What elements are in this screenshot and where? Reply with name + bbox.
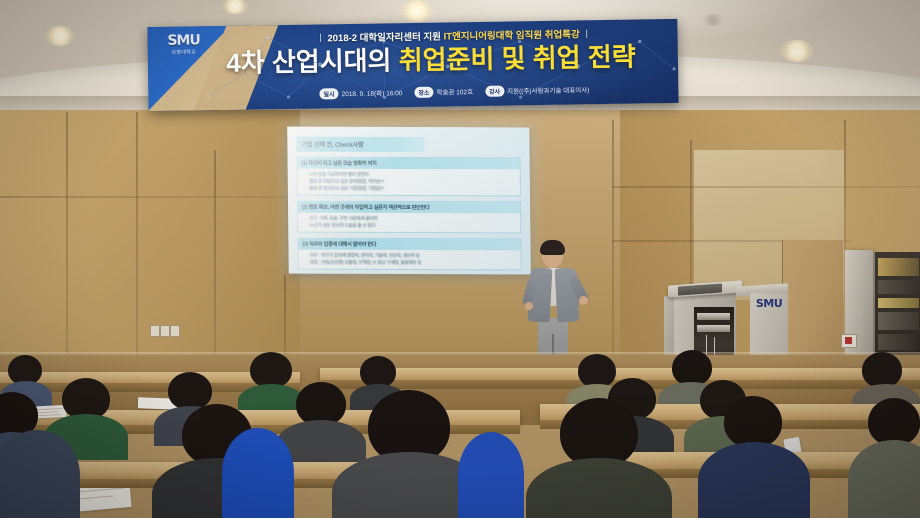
banner-meta-pill: 강사 xyxy=(485,86,504,97)
side-door xyxy=(782,240,843,370)
slide-block: (3) 직무와 업종에 대해서 알아야 한다 직무 : 직무가 흥미에 영업직,… xyxy=(297,238,521,271)
audience-head xyxy=(868,398,920,446)
banner-title-white: 4차 산업시대의 xyxy=(226,45,392,78)
banner-smu-logo: SMU 상명대학교 xyxy=(155,34,211,56)
banner-smu-logo-text: SMU xyxy=(155,34,211,48)
presentation-slide: 기업 선택 전, Check사항 (1) 자신이 되고 싶은 모습 명확히 의지… xyxy=(296,137,521,265)
slide-block-heading: (2) 멘토 확보, 어떤 곳에와 직업하고 싶은지 객관적으로 판단한다 xyxy=(298,202,520,214)
speaker-glasses-icon xyxy=(543,250,562,255)
fire-extinguisher-sign-icon xyxy=(841,334,857,348)
wall-panel-seam xyxy=(214,150,216,374)
banner-bar-right: ㅣ xyxy=(582,29,591,40)
speaker-hand-left xyxy=(525,302,533,310)
slide-bullet: 졸업 후 입사하고 싶은 기업(업종, 기업)은? xyxy=(307,185,516,193)
audience-head xyxy=(250,352,292,388)
wall-panel-seam xyxy=(66,112,68,374)
audience-shoulders xyxy=(0,430,80,518)
slide-block: (1) 자신이 되고 싶은 모습 명확히 의지 나의 꿈을 가급적이면 빨리 정… xyxy=(297,157,521,197)
banner-meta-pill: 일시 xyxy=(319,88,338,99)
banner-meta-text: 학술관 102호 xyxy=(436,89,473,97)
projection-screen: 기업 선택 전, Check사항 (1) 자신이 되고 싶은 모습 명확히 의지… xyxy=(287,127,531,275)
slide-block-body: 직무 : 직무가 흥미에 영업직, 관리직, 기술직, 전산직, 생산직 등 업… xyxy=(299,250,521,270)
notice-board-row xyxy=(878,258,919,276)
wall-panel-seam xyxy=(612,186,920,188)
wall-panel-seam xyxy=(0,196,300,198)
banner-meta-item: 강사지원((주)사람과기술 대표이사) xyxy=(485,84,589,97)
audience-head xyxy=(862,352,902,388)
ceiling-spotlight xyxy=(400,0,434,22)
audience-head xyxy=(578,354,616,388)
audience-head xyxy=(168,372,212,410)
slide-block: (2) 멘토 확보, 어떤 곳에와 직업하고 싶은지 객관적으로 판단한다 친구… xyxy=(297,201,521,234)
slide-bullet: 누군가 세운 정보와 도움을 줄 수 있다 xyxy=(307,222,516,230)
notice-board-row xyxy=(878,312,919,330)
podium-av-rack xyxy=(697,313,730,320)
podium-smu-logo: SMU xyxy=(754,297,784,310)
slide-bullet: 업종 : 산업군(유형) 유통업, 무역업, IT, 화공 기계업, 물류제조 … xyxy=(308,259,517,267)
podium-av-rack xyxy=(697,325,730,332)
notice-board xyxy=(873,252,920,362)
notice-board-row xyxy=(878,334,919,350)
wall-panel-seam xyxy=(844,120,846,250)
banner-meta-item: 일시2018. 9. 18(화) 16:00 xyxy=(319,87,402,99)
wall-panel-seam xyxy=(136,112,138,374)
event-banner: SMU 상명대학교 ㅣ 2018-2 대학일자리센터 지원 IT엔지니어링대학 … xyxy=(147,19,678,111)
banner-title-yellow: 취업준비 및 취업 전략 xyxy=(398,42,635,76)
wall-panel-seam xyxy=(612,120,614,370)
banner-subtitle-prefix: 2018-2 대학일자리센터 지원 xyxy=(327,32,441,45)
audience-head xyxy=(672,350,712,386)
slide-block-body: 나의 꿈을 가급적이면 빨리 정한다 졸업 후 취업하고 싶은 분야(업종, 직… xyxy=(298,169,520,196)
audience-shoulders xyxy=(222,428,294,518)
banner-subtitle-highlight: IT엔지니어링대학 임직원 취업특강 xyxy=(444,29,580,42)
audience-shoulders xyxy=(458,432,524,518)
lecture-desk xyxy=(320,368,920,381)
audience-shoulders xyxy=(698,442,810,518)
slide-block-heading: (1) 자신이 되고 싶은 모습 명확히 의지 xyxy=(298,158,520,170)
wall-outlet xyxy=(160,325,170,337)
wall-outlet xyxy=(150,325,160,337)
banner-meta-pill: 장소 xyxy=(414,87,433,98)
lecture-hall-photo: SMU 상명대학교 ㅣ 2018-2 대학일자리센터 지원 IT엔지니어링대학 … xyxy=(0,0,920,518)
banner-meta-item: 장소학술관 102호 xyxy=(414,86,473,98)
speaker-hand-right xyxy=(579,296,588,305)
slide-block-body: 친구, 가족, 동료, 주변 사람에게 물어라 누군가 세운 정보와 도움을 줄… xyxy=(298,213,520,233)
banner-meta-text: 2018. 9. 18(화) 16:00 xyxy=(342,90,403,98)
ceiling-spotlight xyxy=(45,26,75,46)
audience-head xyxy=(724,396,782,448)
wall-outlet xyxy=(170,325,180,337)
ceiling-vent xyxy=(700,14,726,26)
banner-bar-left: ㅣ xyxy=(316,33,325,44)
slide-title: 기업 선택 전, Check사항 xyxy=(296,137,424,152)
notice-board-row xyxy=(878,280,919,294)
slide-block-heading: (3) 직무와 업종에 대해서 알아야 한다 xyxy=(298,239,520,251)
notice-board-row xyxy=(878,298,919,308)
ceiling-spotlight xyxy=(780,40,814,62)
banner-meta-text: 지원((주)사람과기술 대표이사) xyxy=(507,87,589,95)
banner-smu-logo-subtext: 상명대학교 xyxy=(156,48,212,56)
